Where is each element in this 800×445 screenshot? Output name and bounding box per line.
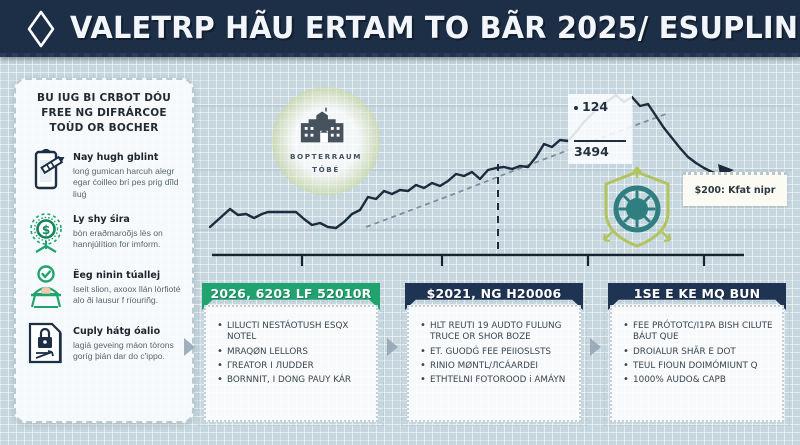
card-bullet: ETHTELNI FОTOROOD i AMÁYN: [420, 375, 570, 386]
card-body: LILUCTI NESTÁOTUSH ESQX NOTEL MRAQØN LEL…: [204, 305, 378, 422]
sidebar-item-body: bòn eraðmaroõjs lès on hannjúlítion for …: [73, 228, 182, 251]
card-bullet: RINIO MØNTL/ЛCÁARDEI: [420, 361, 570, 372]
card-bullet: FEE PRÓTOTC/I1PA BISH CILUTE BÁUT QUE: [623, 321, 773, 344]
info-card-2[interactable]: $2021, NG H20006 HLT REUTI 19 AUDTO FULU…: [399, 283, 589, 428]
value-callout-box: 124 3494: [568, 94, 632, 164]
card-title: $2021, NG H20006: [427, 286, 562, 301]
card-arrow-icon: [590, 338, 601, 356]
card-title: 2026, 6203 LF 52010R: [210, 286, 371, 301]
callout-bottom-value: 3494: [574, 144, 626, 159]
card-body: HLT REUTI 19 AUDTO FULUNG TRUCE OR SHOR …: [407, 305, 581, 422]
lock-document-icon: [26, 320, 66, 368]
watermark-line2: TÓBÉ: [312, 165, 340, 175]
callout-divider: [574, 140, 626, 142]
title-bar: VALETRP HÃU ERTAM TO BÃR 2025/ ESUPLIN 3…: [0, 0, 800, 57]
sidebar-item-1[interactable]: Nay hugh gblint lonǵ gumican harcuh aleg…: [26, 146, 182, 200]
line-chart: BOPTERRAUM TÓBÉ 124 3494: [196, 62, 792, 277]
sidebar-item-title: Nay hugh gblint: [73, 152, 158, 163]
sidebar-heading: BU IUG BI CRBOT DÓU FREE NG DIFRÁRCOE TO…: [26, 91, 182, 137]
info-card-1[interactable]: 2026, 6203 LF 52010R LILUCTI NESTÁOTUSH …: [196, 283, 386, 428]
card-row: 2026, 6203 LF 52010R LILUCTI NESTÁOTUSH …: [196, 283, 792, 428]
info-card-3[interactable]: 1SE E KE MQ BUN FEE PRÓTOTC/I1PA BISH CI…: [602, 283, 792, 428]
card-bullet-list: HLT REUTI 19 AUDTO FULUNG TRUCE OR SHOR …: [420, 321, 570, 386]
sidebar-item-body: lagiá geveing máon tòrons goríg þián dar…: [73, 340, 182, 363]
sidebar-item-title: Ëeg ninin túallej: [73, 270, 160, 281]
card-bullet: TEUL FIOUN DOIMÓMIUNT Q: [623, 361, 773, 372]
sidebar-item-4[interactable]: Cuply hátg óalio lagiá geveing máon tòro…: [26, 320, 182, 368]
card-title: 1SE E KE MQ BUN: [634, 286, 761, 301]
sidebar-item-title: Cuply hátg óalio: [73, 326, 160, 337]
card-bullet: BORNNIT, I DONG PAUY KÁR: [217, 375, 367, 386]
dollar-badge-icon: $: [26, 208, 66, 256]
callout-bullet-dot: [574, 106, 578, 110]
card-bullet: 1000% AUDO& CAPB: [623, 375, 773, 386]
check-table-icon: [26, 264, 66, 312]
shield-virus-icon: [594, 166, 680, 252]
sidebar-item-3[interactable]: Ëeg ninin túallej Iseit slion, axoox llá…: [26, 264, 182, 312]
diamond-outline-icon: [26, 9, 56, 49]
card-bullet: ET. GUODĠ FEE PEIIOSLSTS: [420, 347, 570, 358]
sidebar-item-body: Iseit slion, axoox llán lòrfioté alo ði …: [73, 284, 182, 307]
card-arrow-icon: [184, 338, 195, 356]
sidebar-panel: BU IUG BI CRBOT DÓU FREE NG DIFRÁRCOE TO…: [14, 78, 194, 423]
page-title: VALETRP HÃU ERTAM TO BÃR 2025/ ESUPLIN 3…: [70, 11, 800, 46]
callout-top-value: 124: [574, 99, 626, 114]
sidebar-item-body: lonǵ gumican harcuh alegr egar ćoilleo b…: [73, 166, 182, 200]
sidebar-item-title: Ly shy śira: [73, 214, 130, 225]
card-arrow-icon: [387, 338, 398, 356]
card-bullet: LILUCTI NESTÁOTUSH ESQX NOTEL: [217, 321, 367, 344]
sidebar-item-2[interactable]: $ Ly shy śira bòn eraðmaroõjs lès on han…: [26, 208, 182, 256]
card-bullet: ΓREATOR I ЛUDDER: [217, 361, 367, 372]
card-bullet: DROIALUR SHÃR E DOT: [623, 347, 773, 358]
chart-x-axis: [212, 255, 744, 266]
card-bullet-list: FEE PRÓTOTC/I1PA BISH CILUTE BÁUT QUE DR…: [623, 321, 773, 386]
svg-text:$: $: [42, 223, 50, 237]
price-note: $200: Kfat nipr: [683, 172, 787, 206]
card-bullet: HLT REUTI 19 AUDTO FULUNG TRUCE OR SHOR …: [420, 321, 570, 344]
card-bullet: MRAQØN LELLORS: [217, 347, 367, 358]
brand-watermark: BOPTERRAUM TÓBÉ: [272, 87, 380, 195]
price-note-text: $200: Kfat nipr: [695, 185, 776, 196]
clipboard-pen-icon: [26, 146, 66, 194]
card-bullet-list: LILUCTI NESTÁOTUSH ESQX NOTEL MRAQØN LEL…: [217, 321, 367, 386]
watermark-line1: BOPTERRAUM: [290, 152, 362, 162]
castle-building-icon: [297, 107, 355, 150]
card-body: FEE PRÓTOTC/I1PA BISH CILUTE BÁUT QUE DR…: [610, 305, 784, 422]
